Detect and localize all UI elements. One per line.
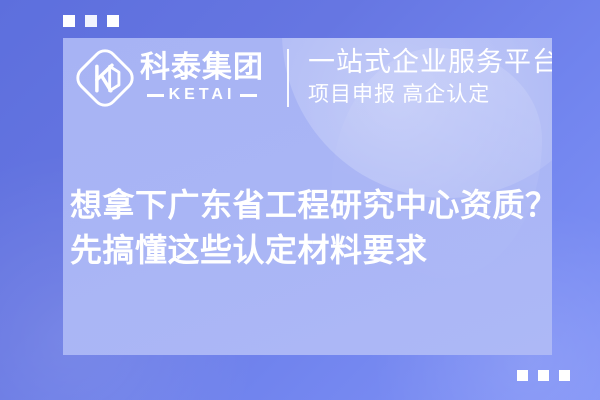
ketai-diamond-kt-logo-icon	[76, 49, 134, 107]
promo-banner: 科泰集团 KETAI 一站式企业服务平台 项目申报 高企认定 想拿下广东省工程研…	[0, 0, 600, 400]
decorative-square	[559, 370, 570, 381]
decorative-square	[538, 370, 549, 381]
brand-wordmark: 科泰集团 KETAI	[140, 53, 264, 103]
decorative-square	[517, 370, 528, 381]
wordmark-rule-left	[147, 94, 164, 97]
brand-name-latin: KETAI	[169, 87, 236, 103]
tagline-main: 一站式企业服务平台	[308, 47, 552, 78]
headline-line-2: 先搞懂这些认定材料要求	[70, 228, 552, 273]
wordmark-rule-right	[240, 94, 257, 97]
headline: 想拿下广东省工程研究中心资质？ 先搞懂这些认定材料要求	[63, 183, 552, 274]
decorative-squares-top-left	[63, 15, 119, 27]
tagline-sub: 项目申报 高企认定	[308, 81, 552, 108]
brand-header: 科泰集团 KETAI 一站式企业服务平台 项目申报 高企认定	[63, 38, 552, 118]
brand-latin-row: KETAI	[147, 87, 258, 103]
tagline-block: 一站式企业服务平台 项目申报 高企认定	[308, 47, 552, 108]
decorative-square	[63, 15, 75, 27]
brand-logo[interactable]: 科泰集团 KETAI	[76, 49, 264, 107]
decorative-square	[85, 15, 97, 27]
brand-name-cn: 科泰集团	[140, 53, 264, 83]
decorative-squares-bottom-right	[517, 370, 570, 381]
banner-card: 科泰集团 KETAI 一站式企业服务平台 项目申报 高企认定 想拿下广东省工程研…	[63, 38, 552, 355]
headline-line-1: 想拿下广东省工程研究中心资质？	[70, 183, 552, 228]
decorative-square	[107, 15, 119, 27]
brand-divider	[287, 49, 289, 107]
